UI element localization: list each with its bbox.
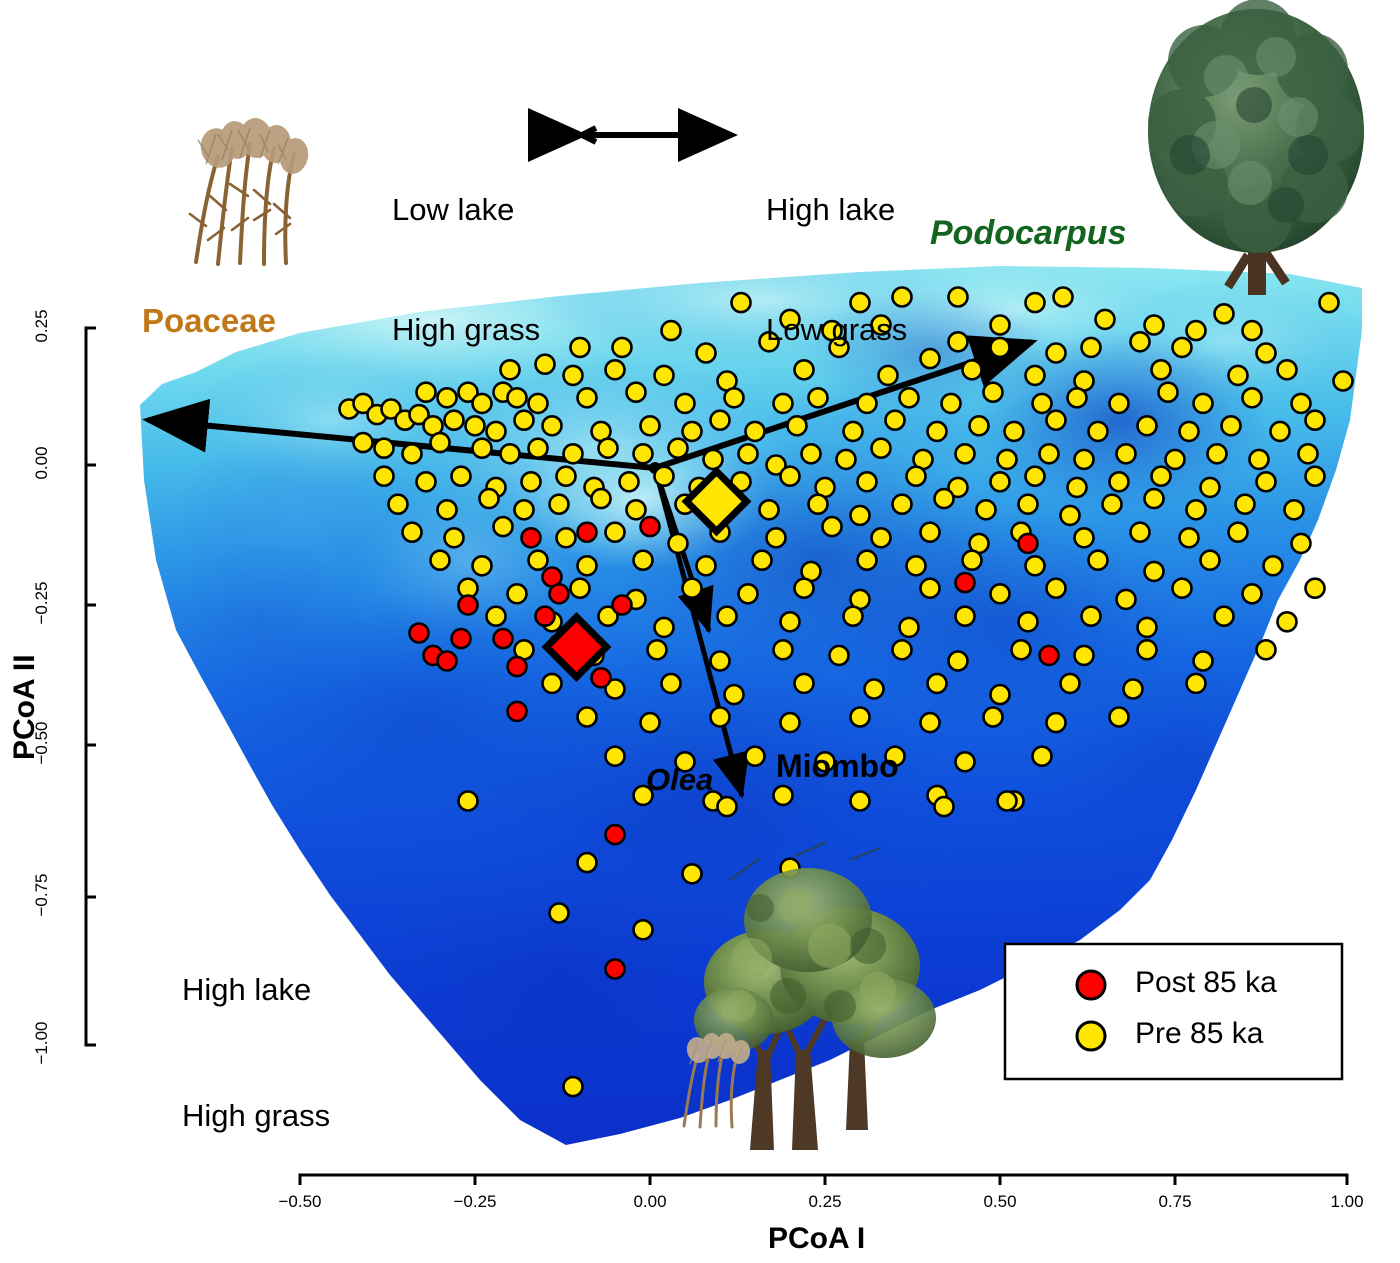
y-tick-label: 0.25 xyxy=(32,309,52,342)
data-point xyxy=(1117,444,1136,463)
data-point xyxy=(1243,388,1262,407)
data-point xyxy=(809,495,828,514)
data-point xyxy=(1138,640,1157,659)
data-point xyxy=(634,444,653,463)
data-point xyxy=(417,472,436,491)
data-point xyxy=(1180,528,1199,547)
direction-label-bottom-left-line1: High lake xyxy=(182,969,330,1011)
data-point xyxy=(606,747,625,766)
data-point xyxy=(928,422,947,441)
data-point xyxy=(1096,310,1115,329)
data-point xyxy=(1082,607,1101,626)
data-point xyxy=(655,366,674,385)
data-point xyxy=(1019,495,1038,514)
vector-label-olea: Olea xyxy=(646,762,713,798)
data-point xyxy=(1019,534,1038,553)
data-point xyxy=(627,383,646,402)
data-point xyxy=(529,551,548,570)
data-point xyxy=(494,517,513,536)
grass-photo xyxy=(190,116,311,264)
data-point xyxy=(550,495,569,514)
data-point xyxy=(907,556,926,575)
data-point xyxy=(529,439,548,458)
data-point xyxy=(991,685,1010,704)
vector-label-podocarpus: Podocarpus xyxy=(930,214,1126,253)
x-tick-label: 1.00 xyxy=(1330,1192,1363,1212)
data-point xyxy=(830,646,849,665)
data-point xyxy=(949,652,968,671)
data-point xyxy=(410,624,429,643)
data-point xyxy=(592,489,611,508)
data-point xyxy=(564,444,583,463)
data-point xyxy=(949,288,968,307)
data-point xyxy=(683,864,702,883)
data-point xyxy=(1278,612,1297,631)
data-point xyxy=(900,618,919,637)
data-point xyxy=(998,450,1017,469)
data-point xyxy=(550,584,569,603)
figure-root: Low lake High grass High lake Low grass … xyxy=(0,0,1400,1263)
data-point xyxy=(711,708,730,727)
data-point xyxy=(522,528,541,547)
data-point xyxy=(634,920,653,939)
data-point xyxy=(655,467,674,486)
legend-swatch-pre xyxy=(1077,1022,1105,1050)
data-point xyxy=(578,556,597,575)
y-axis-title: PCoA II xyxy=(8,654,42,760)
data-point xyxy=(578,708,597,727)
data-point xyxy=(375,439,394,458)
data-point xyxy=(1131,332,1150,351)
data-point xyxy=(1250,450,1269,469)
data-point xyxy=(1201,478,1220,497)
data-point xyxy=(1243,321,1262,340)
data-point xyxy=(571,338,590,357)
data-point xyxy=(697,344,716,363)
data-point xyxy=(1215,607,1234,626)
data-point xyxy=(711,411,730,430)
data-point xyxy=(1306,467,1325,486)
data-point xyxy=(676,394,695,413)
data-point xyxy=(459,792,478,811)
data-point xyxy=(851,506,870,525)
data-point xyxy=(872,528,891,547)
data-point xyxy=(739,584,758,603)
data-point xyxy=(1026,293,1045,312)
data-point xyxy=(795,579,814,598)
data-point xyxy=(1061,506,1080,525)
data-point xyxy=(620,472,639,491)
data-point xyxy=(536,607,555,626)
y-tick-label: −1.00 xyxy=(32,1021,52,1064)
data-point xyxy=(1173,338,1192,357)
data-point xyxy=(431,551,450,570)
data-point xyxy=(578,853,597,872)
data-point xyxy=(1229,523,1248,542)
data-point xyxy=(1243,584,1262,603)
data-point xyxy=(795,674,814,693)
data-point xyxy=(683,579,702,598)
data-point xyxy=(970,416,989,435)
data-point xyxy=(739,444,758,463)
data-point xyxy=(942,394,961,413)
data-point xyxy=(1257,344,1276,363)
data-point xyxy=(991,338,1010,357)
legend-label-post: Post 85 ka xyxy=(1135,966,1277,1000)
data-point xyxy=(1012,640,1031,659)
data-point xyxy=(921,713,940,732)
data-point xyxy=(865,680,884,699)
data-point xyxy=(578,388,597,407)
data-point xyxy=(641,517,660,536)
data-point xyxy=(438,652,457,671)
x-tick-label: 0.25 xyxy=(808,1192,841,1212)
data-point xyxy=(1194,394,1213,413)
data-point xyxy=(452,467,471,486)
data-point xyxy=(991,584,1010,603)
data-point xyxy=(473,556,492,575)
data-point xyxy=(893,640,912,659)
data-point xyxy=(557,467,576,486)
legend-swatch-post xyxy=(1077,971,1105,999)
data-point xyxy=(956,444,975,463)
data-point xyxy=(1264,556,1283,575)
data-point xyxy=(1292,534,1311,553)
data-point xyxy=(1229,366,1248,385)
data-point xyxy=(1026,366,1045,385)
data-point xyxy=(746,747,765,766)
data-point xyxy=(1089,551,1108,570)
data-point xyxy=(627,500,646,519)
data-point xyxy=(606,960,625,979)
data-point xyxy=(1159,383,1178,402)
data-point xyxy=(571,579,590,598)
data-point xyxy=(935,489,954,508)
data-point xyxy=(494,629,513,648)
data-point xyxy=(928,674,947,693)
data-point xyxy=(998,792,1017,811)
data-point xyxy=(508,584,527,603)
x-tick-label: −0.25 xyxy=(453,1192,496,1212)
data-point xyxy=(1145,489,1164,508)
data-point xyxy=(543,674,562,693)
data-point xyxy=(781,612,800,631)
direction-label-top-right-line2: Low grass xyxy=(766,310,907,350)
data-point xyxy=(760,500,779,519)
data-point xyxy=(1208,444,1227,463)
data-point xyxy=(802,444,821,463)
data-point xyxy=(1047,411,1066,430)
data-point xyxy=(403,444,422,463)
data-point xyxy=(1117,590,1136,609)
data-point xyxy=(907,467,926,486)
data-point xyxy=(480,489,499,508)
data-point xyxy=(403,523,422,542)
data-point xyxy=(1047,344,1066,363)
data-point xyxy=(1152,467,1171,486)
data-point xyxy=(851,708,870,727)
direction-label-top-right-line1: High lake xyxy=(766,190,907,230)
data-point xyxy=(858,472,877,491)
data-point xyxy=(1040,444,1059,463)
data-point xyxy=(1187,321,1206,340)
data-point xyxy=(1257,472,1276,491)
data-point xyxy=(1194,652,1213,671)
data-point xyxy=(844,607,863,626)
data-point xyxy=(508,657,527,676)
data-point xyxy=(1299,444,1318,463)
data-point xyxy=(648,640,667,659)
data-point xyxy=(1068,478,1087,497)
data-point xyxy=(1103,495,1122,514)
data-point xyxy=(1145,316,1164,335)
data-point xyxy=(1166,450,1185,469)
data-point xyxy=(837,450,856,469)
data-point xyxy=(977,500,996,519)
direction-label-top-right: High lake Low grass xyxy=(766,110,907,430)
data-point xyxy=(732,293,751,312)
x-tick-label: 0.75 xyxy=(1158,1192,1191,1212)
data-point xyxy=(634,551,653,570)
data-point xyxy=(1278,360,1297,379)
x-tick-label: 0.50 xyxy=(983,1192,1016,1212)
data-point xyxy=(669,534,688,553)
direction-label-top-left: Low lake High grass xyxy=(392,110,540,430)
data-point xyxy=(564,1077,583,1096)
data-point xyxy=(711,652,730,671)
data-point xyxy=(1047,713,1066,732)
data-point xyxy=(774,640,793,659)
data-point xyxy=(375,467,394,486)
data-point xyxy=(1285,500,1304,519)
data-point xyxy=(452,629,471,648)
data-point xyxy=(1033,394,1052,413)
data-point xyxy=(984,383,1003,402)
data-point xyxy=(1187,674,1206,693)
y-tick-label: 0.00 xyxy=(32,446,52,479)
data-point xyxy=(1187,500,1206,519)
axis-y xyxy=(86,328,96,1045)
data-point xyxy=(1306,411,1325,430)
data-point xyxy=(1075,646,1094,665)
data-point xyxy=(1173,579,1192,598)
podocarpus-tree-photo xyxy=(1148,0,1364,295)
data-point xyxy=(613,338,632,357)
gradient-direction-arrow xyxy=(582,128,732,142)
direction-label-top-left-line1: Low lake xyxy=(392,190,540,230)
data-point xyxy=(599,439,618,458)
data-point xyxy=(543,416,562,435)
data-point xyxy=(1033,747,1052,766)
data-point xyxy=(1180,422,1199,441)
data-point xyxy=(991,472,1010,491)
data-point xyxy=(1005,422,1024,441)
data-point xyxy=(438,500,457,519)
data-point xyxy=(823,517,842,536)
data-point xyxy=(515,500,534,519)
x-axis-title: PCoA I xyxy=(768,1222,865,1256)
vector-label-miombo: Miombo xyxy=(776,748,899,785)
data-point xyxy=(522,472,541,491)
data-point xyxy=(718,607,737,626)
data-point xyxy=(956,607,975,626)
data-point xyxy=(557,528,576,547)
data-point xyxy=(1110,708,1129,727)
data-point xyxy=(1026,556,1045,575)
data-point xyxy=(774,786,793,805)
data-point xyxy=(662,674,681,693)
data-point xyxy=(1201,551,1220,570)
data-point xyxy=(606,523,625,542)
data-point xyxy=(1292,394,1311,413)
data-point xyxy=(1271,422,1290,441)
data-point xyxy=(956,752,975,771)
data-point xyxy=(662,321,681,340)
data-point xyxy=(935,797,954,816)
data-point xyxy=(984,708,1003,727)
data-point xyxy=(1320,293,1339,312)
data-point xyxy=(1145,562,1164,581)
vector-label-poaceae: Poaceae xyxy=(142,302,276,340)
data-point xyxy=(1110,394,1129,413)
data-point xyxy=(1124,680,1143,699)
data-point xyxy=(487,607,506,626)
y-tick-label: −0.25 xyxy=(32,581,52,624)
data-point xyxy=(718,797,737,816)
data-point xyxy=(1306,579,1325,598)
data-point xyxy=(578,523,597,542)
data-point xyxy=(1026,467,1045,486)
data-point xyxy=(858,551,877,570)
data-point xyxy=(473,439,492,458)
data-point xyxy=(1068,388,1087,407)
data-point xyxy=(354,433,373,452)
data-point xyxy=(1089,422,1108,441)
data-point xyxy=(1236,495,1255,514)
data-point xyxy=(991,316,1010,335)
data-point xyxy=(781,713,800,732)
x-tick-label: 0.00 xyxy=(633,1192,666,1212)
data-point xyxy=(851,792,870,811)
data-point xyxy=(704,450,723,469)
data-point xyxy=(872,439,891,458)
data-point xyxy=(592,668,611,687)
data-point xyxy=(1138,416,1157,435)
data-point xyxy=(613,596,632,615)
data-point xyxy=(683,422,702,441)
data-point xyxy=(1152,360,1171,379)
y-tick-label: −0.75 xyxy=(32,873,52,916)
data-point xyxy=(1075,528,1094,547)
legend-label-pre: Pre 85 ka xyxy=(1135,1017,1263,1051)
data-point xyxy=(963,360,982,379)
data-point xyxy=(781,467,800,486)
data-point xyxy=(725,388,744,407)
data-point xyxy=(1061,674,1080,693)
data-point xyxy=(1334,372,1353,391)
data-point xyxy=(1131,523,1150,542)
data-point xyxy=(669,439,688,458)
data-point xyxy=(389,495,408,514)
data-point xyxy=(1054,288,1073,307)
data-point xyxy=(1222,416,1241,435)
data-point xyxy=(1019,612,1038,631)
data-point xyxy=(1257,640,1276,659)
data-point xyxy=(963,551,982,570)
data-point xyxy=(1138,618,1157,637)
axis-x xyxy=(300,1175,1347,1185)
x-tick-label: −0.50 xyxy=(278,1192,321,1212)
data-point xyxy=(641,416,660,435)
data-point xyxy=(564,366,583,385)
data-point xyxy=(921,349,940,368)
data-point xyxy=(1215,304,1234,323)
data-point xyxy=(746,422,765,441)
data-point xyxy=(1110,472,1129,491)
data-point xyxy=(431,433,450,452)
data-point xyxy=(956,573,975,592)
data-point xyxy=(921,579,940,598)
direction-label-bottom-left: High lake High grass xyxy=(182,885,330,1221)
data-point xyxy=(606,360,625,379)
data-point xyxy=(1082,338,1101,357)
direction-label-bottom-left-line2: High grass xyxy=(182,1095,330,1137)
data-point xyxy=(767,528,786,547)
data-point xyxy=(501,444,520,463)
data-point xyxy=(445,528,464,547)
data-point xyxy=(508,702,527,721)
data-point xyxy=(921,523,940,542)
data-point xyxy=(459,596,478,615)
data-point xyxy=(949,332,968,351)
data-point xyxy=(606,825,625,844)
data-point xyxy=(655,618,674,637)
data-point xyxy=(550,904,569,923)
data-point xyxy=(725,685,744,704)
direction-label-top-left-line2: High grass xyxy=(392,310,540,350)
data-point xyxy=(753,551,772,570)
data-point xyxy=(893,495,912,514)
data-point xyxy=(1075,450,1094,469)
data-point xyxy=(1047,579,1066,598)
legend xyxy=(1005,944,1342,1079)
data-point xyxy=(641,713,660,732)
data-point xyxy=(697,556,716,575)
data-point xyxy=(1040,646,1059,665)
